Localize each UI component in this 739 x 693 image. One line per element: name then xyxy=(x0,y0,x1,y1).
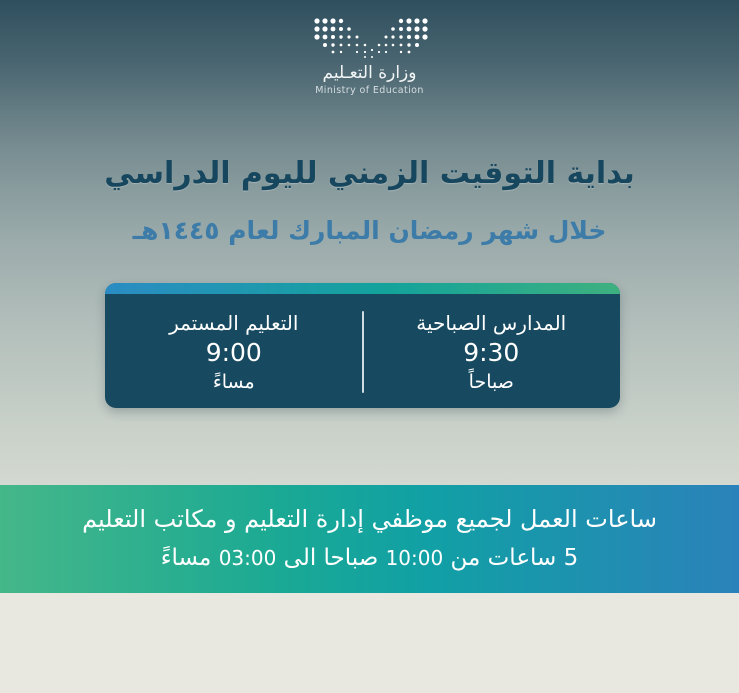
working-hours-banner: ساعات العمل لجميع موظفي إدارة التعليم و … xyxy=(0,485,739,593)
schedule-card: المدارس الصباحية 9:30 صباحاً التعليم الم… xyxy=(105,283,620,408)
column-time: 9:30 xyxy=(463,337,519,370)
banner-hours-suffix: مساءً xyxy=(161,545,212,571)
ministry-logo-block: وزارة التعـليم Ministry of Education xyxy=(0,16,739,96)
card-gradient-accent-bar xyxy=(105,283,620,294)
moe-dotted-chevron-logo-icon xyxy=(311,16,429,60)
banner-start-time: 10:00 xyxy=(386,546,444,570)
poster-root: وزارة التعـليم Ministry of Education بدا… xyxy=(0,0,739,693)
page-title: بداية التوقيت الزمني لليوم الدراسي xyxy=(0,155,739,193)
schedule-column-morning-schools: المدارس الصباحية 9:30 صباحاً xyxy=(363,294,621,408)
column-time: 9:00 xyxy=(206,337,262,370)
ministry-name-arabic: وزارة التعـليم xyxy=(0,64,739,83)
schedule-column-continuing-education: التعليم المستمر 9:00 مساءً xyxy=(105,294,363,408)
card-column-divider xyxy=(362,311,364,393)
banner-headline: ساعات العمل لجميع موظفي إدارة التعليم و … xyxy=(82,504,657,535)
banner-end-time: 03:00 xyxy=(219,546,277,570)
banner-hours-mid: صباحا الى xyxy=(284,545,379,571)
banner-hours-line: 5 ساعات من 10:00 صباحا الى 03:00 مساءً xyxy=(161,544,579,574)
column-title: المدارس الصباحية xyxy=(416,311,566,336)
column-period: مساءً xyxy=(213,371,255,395)
bottom-background-plate xyxy=(0,593,739,693)
page-subtitle: خلال شهر رمضان المبارك لعام ١٤٤٥هـ xyxy=(0,215,739,248)
column-title: التعليم المستمر xyxy=(169,311,298,336)
ministry-name-english: Ministry of Education xyxy=(0,85,739,96)
column-period: صباحاً xyxy=(469,371,514,395)
banner-hours-prefix: 5 ساعات من xyxy=(451,545,579,571)
